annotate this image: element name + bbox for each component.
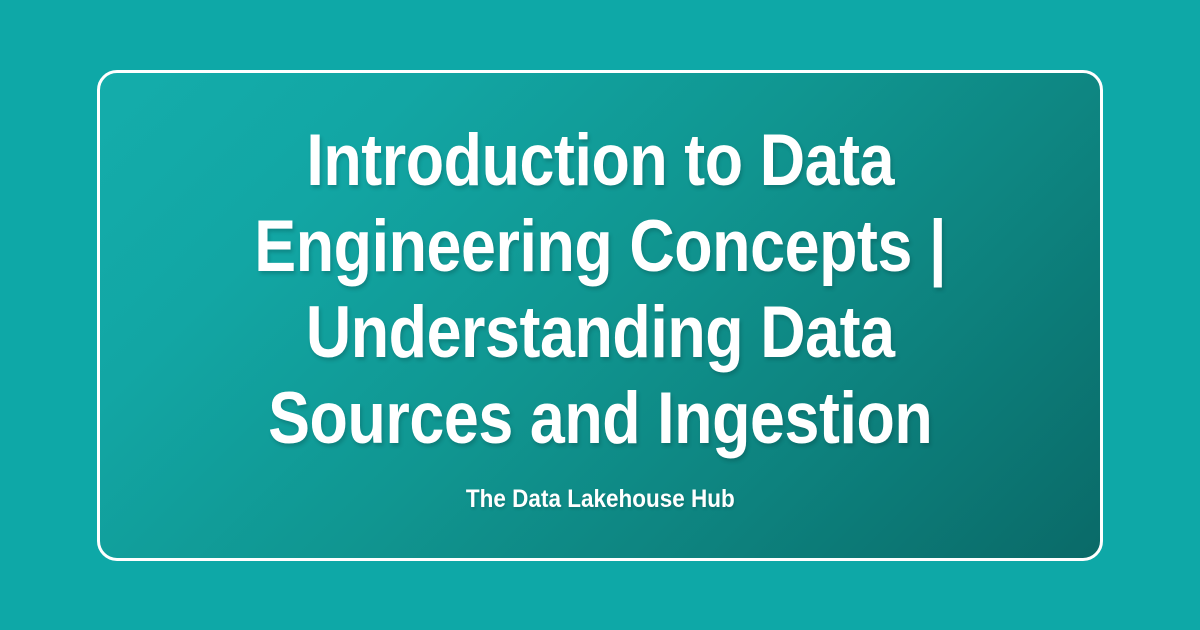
og-image-canvas: Introduction to Data Engineering Concept… bbox=[0, 0, 1200, 630]
title-line-2: Engineering Concepts | bbox=[254, 204, 946, 290]
site-name-subtitle: The Data Lakehouse Hub bbox=[466, 462, 735, 514]
content-card: Introduction to Data Engineering Concept… bbox=[97, 70, 1103, 561]
title-line-1: Introduction to Data bbox=[254, 118, 946, 204]
title-line-3: Understanding Data bbox=[254, 290, 946, 376]
card-content: Introduction to Data Engineering Concept… bbox=[100, 118, 1100, 514]
title-line-4: Sources and Ingestion bbox=[254, 376, 946, 462]
page-title: Introduction to Data Engineering Concept… bbox=[254, 118, 946, 462]
